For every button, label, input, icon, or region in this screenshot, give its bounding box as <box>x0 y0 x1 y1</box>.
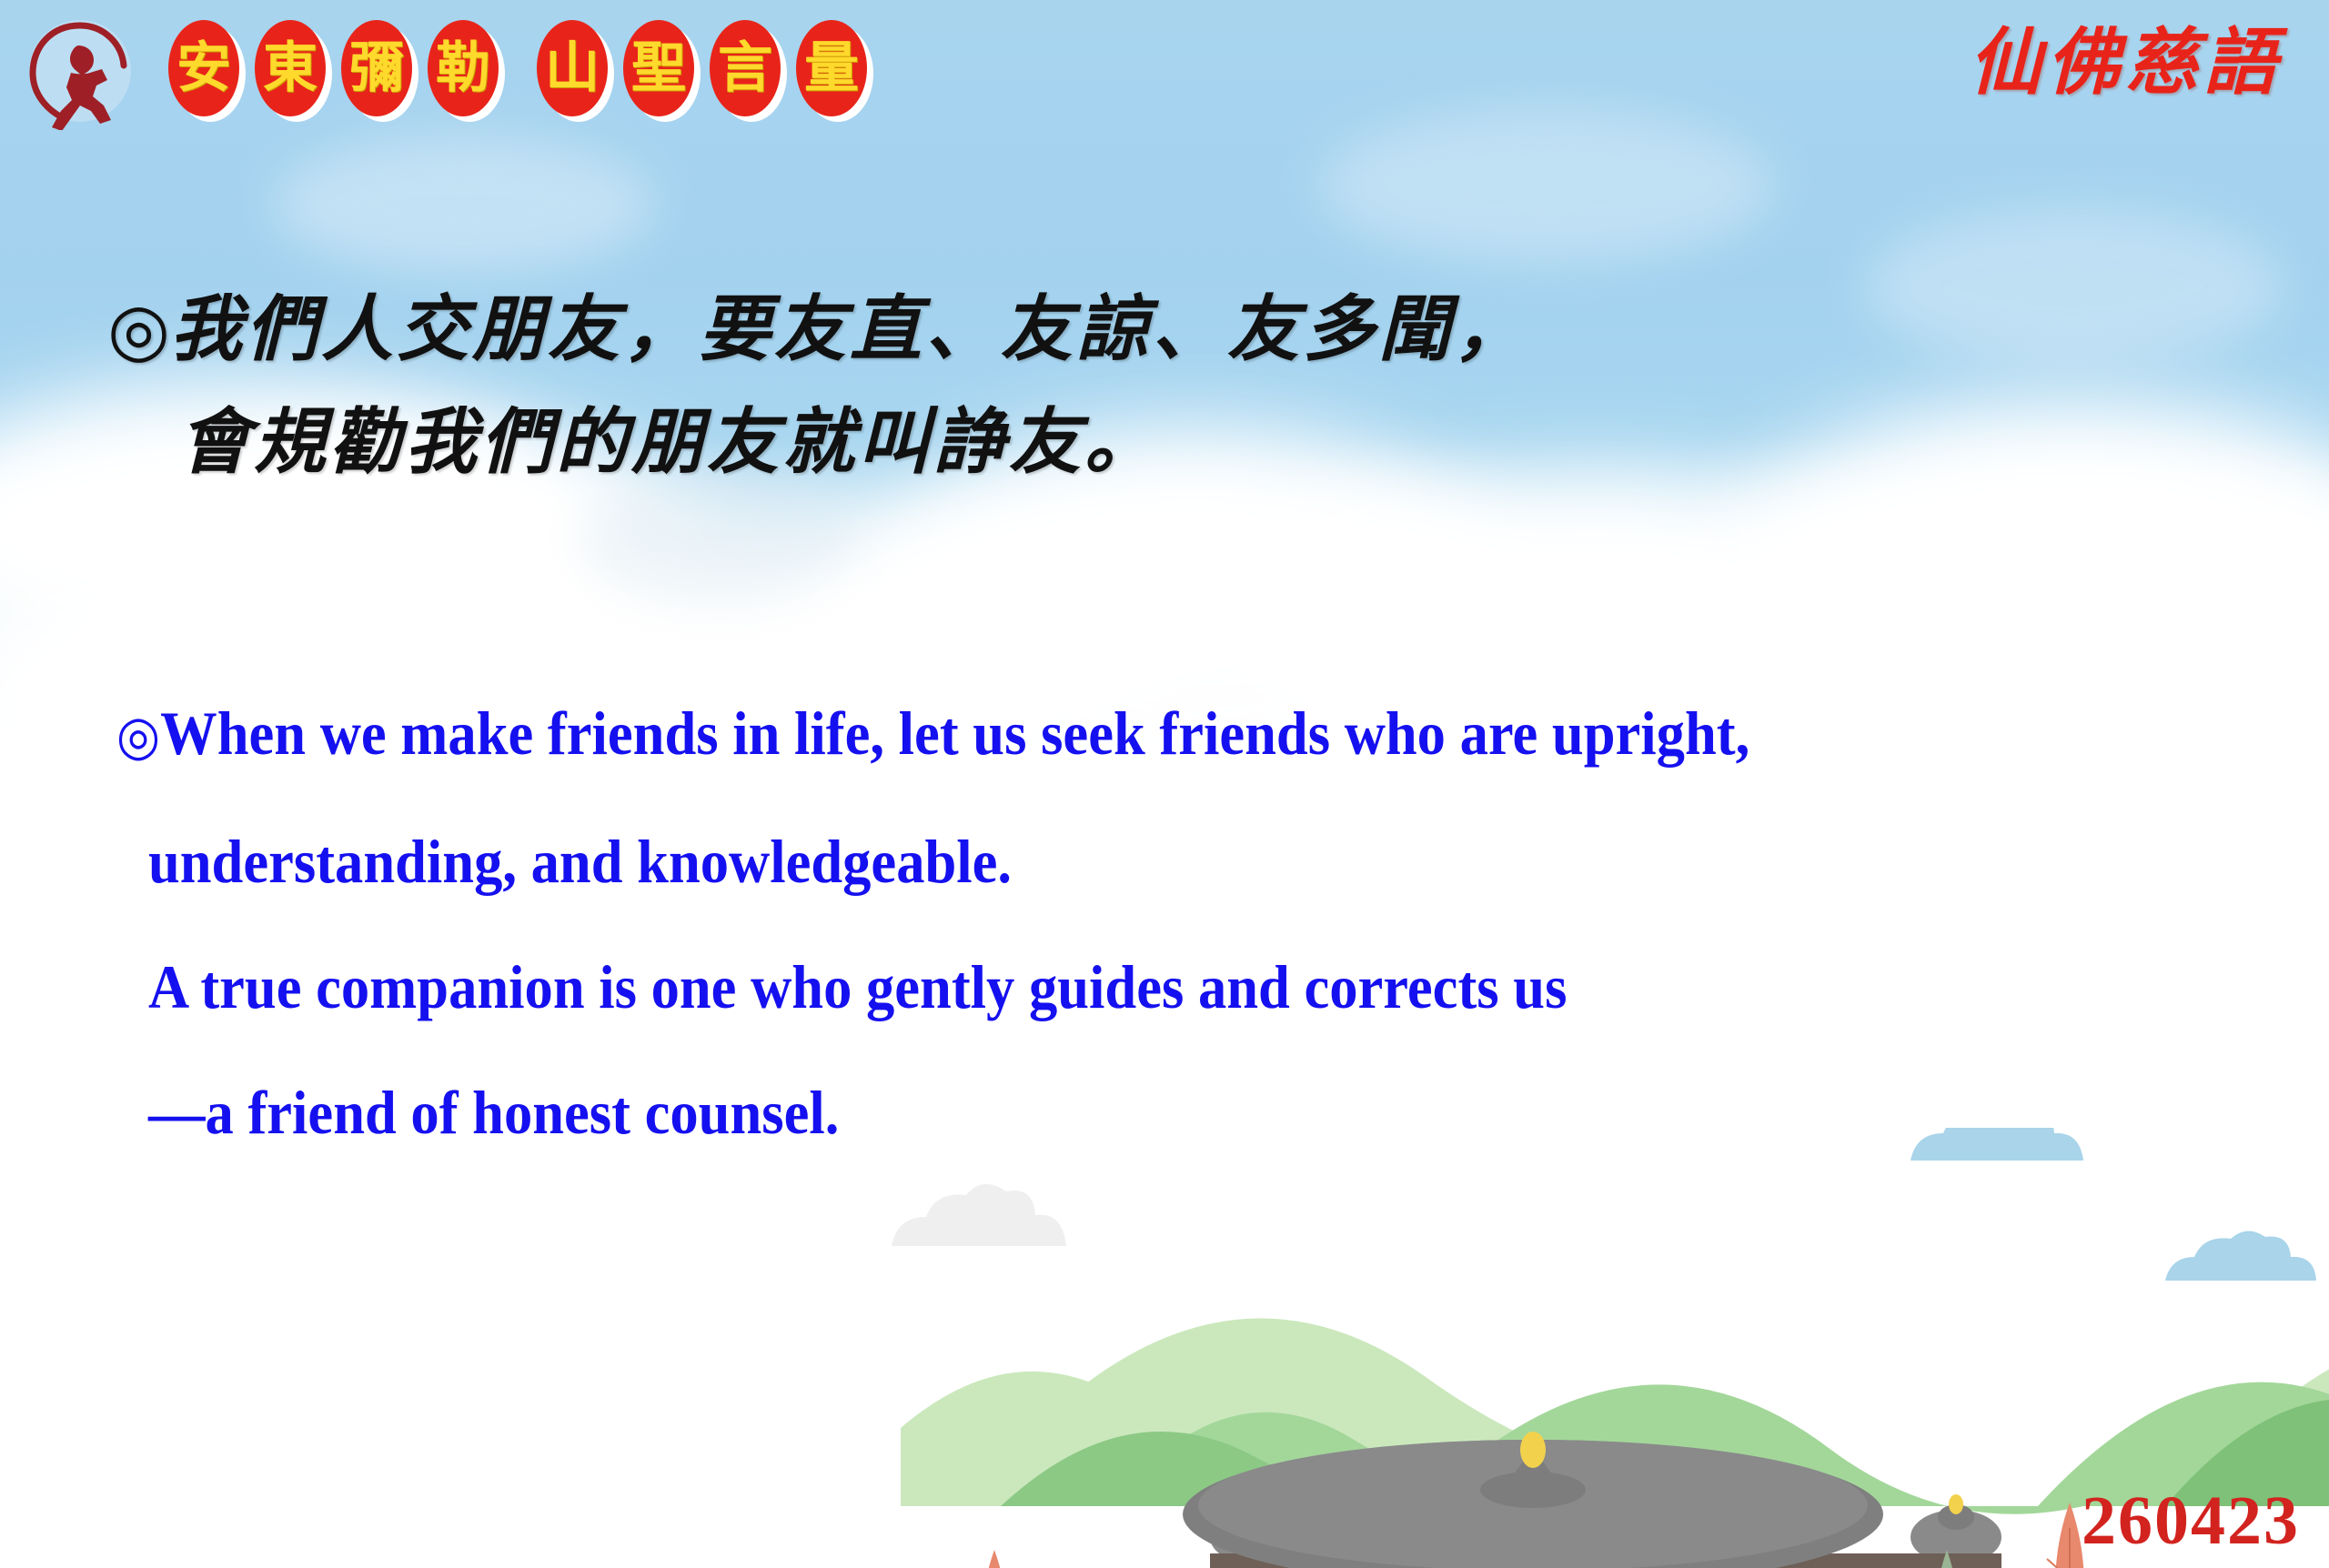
title-badge-4: 勒 <box>428 20 499 116</box>
badge-char: 勒 <box>436 41 490 95</box>
badge-char: 彌 <box>349 41 404 95</box>
english-quote-block: ◎When we make friends in life, let us se… <box>116 670 2118 1175</box>
cloud-blue-far-right <box>2165 1231 2316 1281</box>
title-badge-5: 山 <box>537 20 608 116</box>
maitreya-figure-logo-icon <box>25 16 135 130</box>
title-badge-1: 安 <box>168 20 239 116</box>
title-badge-row: 安 東 彌 勒 山 聖 言 <box>168 20 882 116</box>
tree-coral-left <box>972 1550 1017 1568</box>
cloud-grey-left <box>892 1184 1066 1246</box>
badge-char: 言 <box>718 41 772 95</box>
english-quote-line-3-text: A true companion is one who gently guide… <box>148 952 1567 1021</box>
title-badge-2: 東 <box>255 20 326 116</box>
bullet-mark: ◎ <box>107 287 170 371</box>
badge-char: 量 <box>804 41 859 95</box>
title-badge-3: 彌 <box>341 20 412 116</box>
bullet-mark: ◎ <box>116 704 160 768</box>
badge-char: 安 <box>176 41 231 95</box>
badge-char: 山 <box>545 41 600 95</box>
title-badge-7: 言 <box>710 20 781 116</box>
english-quote-line-4-text: —a friend of honest counsel. <box>148 1078 839 1147</box>
cloud-blue-upper-right <box>1911 1128 2083 1161</box>
chinese-quote-line-1: ◎我們人交朋友，要友直、友諒、友多聞， <box>107 273 1927 386</box>
english-quote-line-2: understanding, and knowledgeable. <box>116 799 1958 924</box>
header-bar: 安 東 彌 勒 山 聖 言 <box>0 0 2329 159</box>
title-badge-6: 聖 <box>623 20 694 116</box>
slide-number: 260423 <box>2082 1486 2300 1555</box>
english-quote-line-1: ◎When we make friends in life, let us se… <box>116 670 1958 799</box>
title-badge-8: 量 <box>796 20 867 116</box>
badge-char: 東 <box>263 41 318 95</box>
chinese-quote-line-2-text: 會規勸我們的朋友就叫諍友。 <box>178 399 1160 484</box>
english-quote-line-3: A true companion is one who gently guide… <box>116 924 1958 1050</box>
english-quote-line-1-text: When we make friends in life, let us see… <box>160 699 1749 768</box>
badge-char: 聖 <box>631 41 686 95</box>
chinese-quote-line-2: 會規勸我們的朋友就叫諍友。 <box>107 386 1927 498</box>
header-right-title: 仙佛慈語 <box>1969 25 2282 98</box>
chinese-quote-line-1-text: 我們人交朋友，要友直、友諒、友多聞， <box>170 286 1529 371</box>
slide-canvas: 安 東 彌 勒 山 聖 言 <box>0 0 2329 1568</box>
chinese-quote-block: ◎我們人交朋友，要友直、友諒、友多聞， 會規勸我們的朋友就叫諍友。 <box>107 273 1927 498</box>
english-quote-line-2-text: understanding, and knowledgeable. <box>148 827 1012 896</box>
